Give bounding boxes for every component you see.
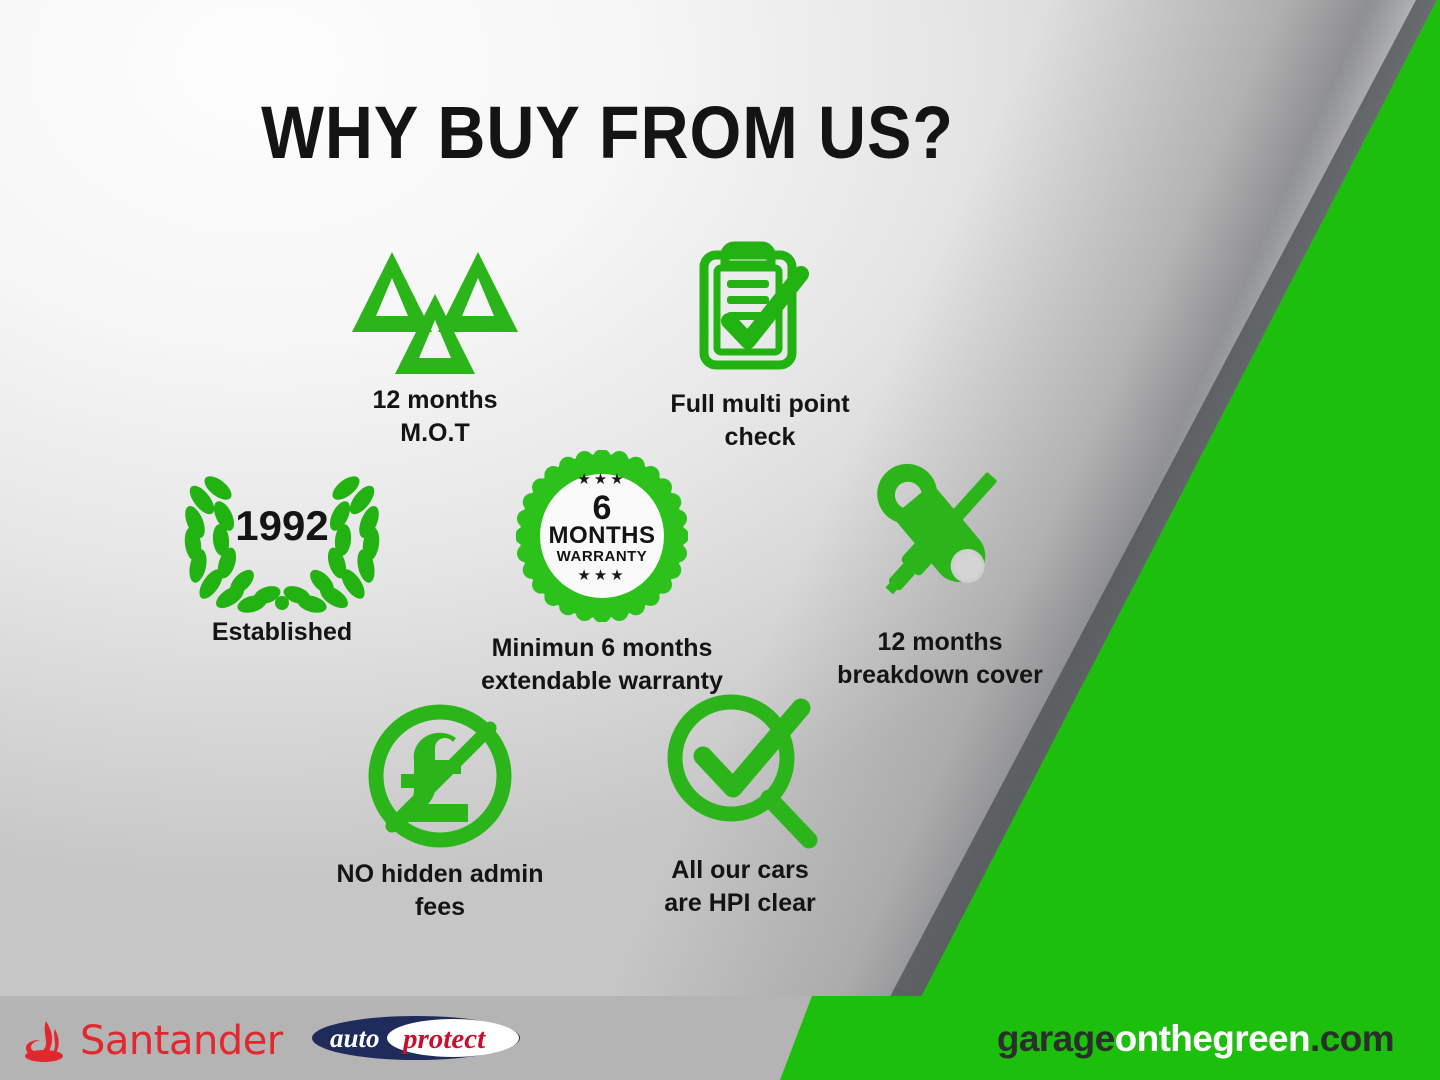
no-pound-fee-icon <box>300 700 580 852</box>
badge-warranty-label: WARRANTY <box>432 549 772 564</box>
feature-fees-caption-line1: NO hidden admin <box>300 858 580 891</box>
feature-fees-caption-line2: fees <box>300 891 580 924</box>
poster-canvas: WHY BUY FROM US? 12 months M.O.T <box>0 0 1440 1080</box>
feature-hpi-clear: All our cars are HPI clear <box>600 690 880 919</box>
santander-wordmark: Santander <box>80 1018 283 1064</box>
autoprotect-word-protect: protect <box>400 1023 486 1055</box>
feature-mot-caption-line1: 12 months <box>300 384 570 417</box>
warranty-badge-icon: ★★★ 6 MONTHS WARRANTY ★★★ <box>432 450 772 622</box>
feature-breakdown-caption-line1: 12 months <box>790 626 1090 659</box>
wrench-screwdriver-icon <box>790 448 1090 618</box>
laurel-wreath-icon: 1992 <box>152 464 412 614</box>
feature-breakdown-cover: 12 months breakdown cover <box>790 448 1090 691</box>
footer-bar: Santander auto protect garageonthegreen.… <box>0 996 1440 1080</box>
badge-stars-top: ★★★ <box>432 472 772 487</box>
feature-warranty-caption-line1: Minimun 6 months <box>432 632 772 665</box>
established-year: 1992 <box>152 502 412 550</box>
page-title: WHY BUY FROM US? <box>72 96 1368 170</box>
badge-stars-bottom: ★★★ <box>432 568 772 583</box>
autoprotect-logo: auto protect <box>310 1014 522 1062</box>
feature-multi-point-check: Full multi point check <box>600 238 920 453</box>
feature-breakdown-caption-line2: breakdown cover <box>790 659 1090 692</box>
autoprotect-word-auto: auto <box>330 1023 380 1053</box>
feature-check-caption-line1: Full multi point <box>600 388 920 421</box>
clipboard-check-icon <box>600 238 920 380</box>
website-wordmark[interactable]: garageonthegreen.com <box>997 1018 1394 1060</box>
magnifier-check-icon <box>600 690 880 850</box>
badge-months-label: MONTHS <box>432 524 772 548</box>
website-part-com: .com <box>1310 1018 1394 1059</box>
feature-mot-caption-line2: M.O.T <box>300 417 570 450</box>
mot-triangles-icon <box>300 244 570 376</box>
feature-hpi-caption-line2: are HPI clear <box>600 887 880 920</box>
feature-mot: 12 months M.O.T <box>300 244 570 449</box>
santander-logo: Santander <box>22 1018 283 1064</box>
website-part-onthe: onthe <box>1115 1018 1213 1059</box>
feature-established: 1992 Established <box>152 464 412 649</box>
feature-hpi-caption-line1: All our cars <box>600 854 880 887</box>
feature-no-admin-fees: NO hidden admin fees <box>300 700 580 923</box>
feature-warranty: ★★★ 6 MONTHS WARRANTY ★★★ Minimun 6 mont… <box>432 450 772 697</box>
badge-number: 6 <box>432 491 772 525</box>
website-part-garage: garage <box>997 1018 1115 1059</box>
santander-flame-icon <box>22 1019 70 1063</box>
website-part-green: green <box>1212 1018 1310 1059</box>
feature-established-caption: Established <box>152 616 412 649</box>
